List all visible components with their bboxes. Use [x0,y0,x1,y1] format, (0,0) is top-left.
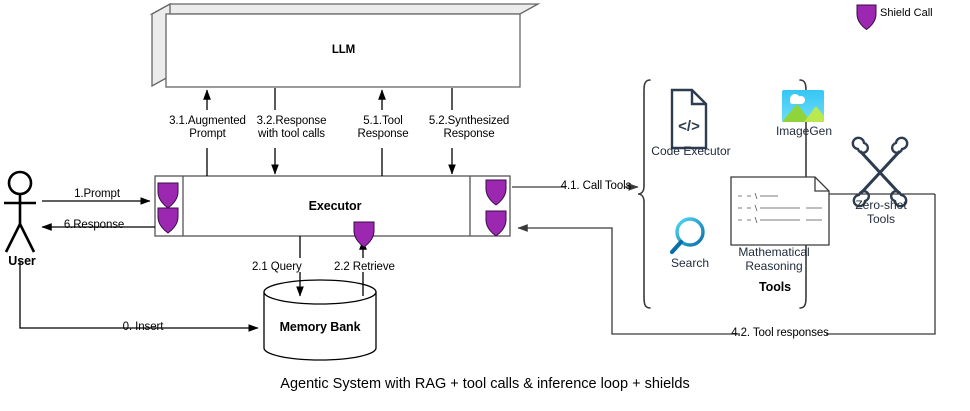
tool-label-zero-shot-tools: Zero-shot Tools [841,198,921,226]
edge-label-response-with-tool-calls: 3.2.Response with tool calls [233,115,350,141]
magnifier-icon[interactable] [672,219,703,252]
formula-document-icon[interactable] [731,177,829,245]
node-label-llm: LLM [306,44,381,57]
shield-icon-executor-center [354,222,374,247]
edge-insert [20,262,258,328]
tool-label-search: Search [659,256,721,270]
edge-label-insert: 0. Insert [78,321,208,334]
tool-label-code-executor: Code Executor [645,144,737,158]
node-label-user: User [2,255,42,268]
node-user-actor[interactable] [4,172,36,252]
image-picture-icon[interactable] [782,90,824,122]
svg-text:</>: </> [678,118,700,135]
diagram-canvas: </> [0,0,970,411]
tools-group-label: Tools [730,281,820,294]
node-label-executor: Executor [290,200,380,213]
edge-label-response: 6.Response [40,219,148,232]
edge-label-tool-responses: 4.2. Tool responses [723,327,837,340]
edge-label-retrieve: 2.2 Retrieve [334,261,444,274]
diagram-caption: Agentic System with RAG + tool calls & i… [0,376,970,392]
edge-label-prompt: 1.Prompt [50,188,144,201]
tools-group-brace-left [638,80,650,308]
legend-shield-label: Shield Call [880,7,933,19]
crossed-wrenches-icon[interactable] [853,138,907,206]
edge-label-synthesized-response: 5.2.Synthesized Response [415,115,523,141]
edge-label-call-tools: 4.1. Call Tools [540,180,652,193]
diagram-vector-layer: </> [0,0,970,411]
code-document-icon[interactable]: </> [672,90,706,148]
tool-label-mathematical-reasoning: Mathematical Reasoning [722,245,826,273]
node-label-memory-bank: Memory Bank [268,321,372,334]
shield-icon-legend [857,5,876,30]
tool-label-imagegen: ImageGen [767,124,841,138]
edge-label-query: 2.1 Query [252,261,347,274]
